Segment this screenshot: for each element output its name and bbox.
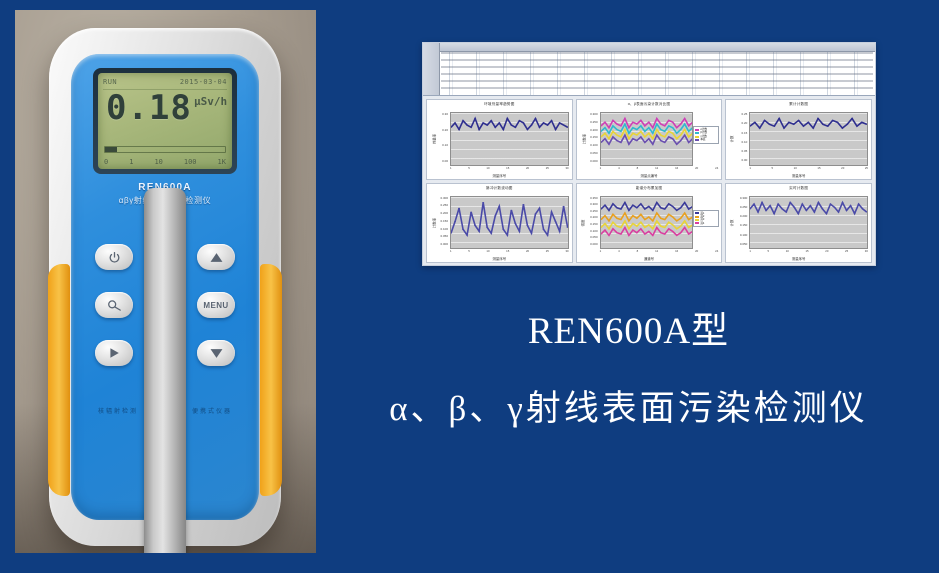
- chart-x-tick: 5: [468, 249, 470, 255]
- up-button[interactable]: [197, 244, 235, 270]
- chart-y-ticks: 0.250.200.150.100.050.00: [734, 112, 747, 163]
- lcd-screen: RUN 2015-03-04 0.18 μSv/h 0 1 10 100: [98, 73, 232, 169]
- chart-x-tick: 10: [786, 249, 789, 255]
- power-icon: [108, 251, 121, 264]
- chart-legend-swatch: [695, 216, 699, 218]
- lcd-bargraph: [104, 146, 226, 153]
- triangle-right-icon: [108, 347, 120, 359]
- chart-y-tick: 0.20: [741, 121, 747, 125]
- chart-cell: 环境剂量率趋势图剂量率0.300.200.100.00151015202530测…: [426, 99, 573, 180]
- chart-plot-area: [749, 196, 868, 250]
- chart-legend-swatch: [695, 139, 699, 141]
- chart-y-tick: 0.150: [740, 223, 748, 227]
- software-screenshot-panel: 环境剂量率趋势图剂量率0.300.200.100.00151015202530测…: [422, 42, 876, 266]
- chart-x-tick: 16: [675, 249, 678, 255]
- chart-plot-area: [749, 112, 868, 166]
- poster-titles: REN600A型 α、β、γ射线表面污染检测仪: [318, 300, 939, 431]
- chart-cell: α、β表面污染计数对比图计数率0.3000.2500.2000.1500.100…: [576, 99, 723, 180]
- chart-x-tick: 15: [817, 166, 820, 172]
- chart-x-tick: 12: [655, 249, 658, 255]
- lcd-scale-tick: 10: [154, 158, 162, 166]
- chart-y-tick: 0.100: [740, 233, 748, 237]
- chart-y-tick: 0.30: [442, 112, 448, 116]
- chart-x-tick: 1: [450, 166, 452, 172]
- chart-y-tick: 0.200: [740, 214, 748, 218]
- chart-x-tick: 30: [865, 249, 868, 255]
- chart-y-tick: 0.200: [440, 211, 448, 215]
- chart-legend-swatch: [695, 129, 699, 131]
- chart-x-ticks: 151015202530: [749, 249, 868, 255]
- lcd-bezel: RUN 2015-03-04 0.18 μSv/h 0 1 10 100: [93, 68, 237, 174]
- side-grip-left: [48, 264, 70, 496]
- detector-device: RUN 2015-03-04 0.18 μSv/h 0 1 10 100: [49, 28, 281, 546]
- chart-x-tick: 15: [806, 249, 809, 255]
- chart-x-tick: 8: [637, 166, 639, 172]
- poster-stage: RUN 2015-03-04 0.18 μSv/h 0 1 10 100: [0, 0, 939, 573]
- chart-x-tick: 20: [825, 249, 828, 255]
- chart-plot-area: [450, 196, 569, 250]
- chart-legend-swatch: [695, 136, 699, 138]
- chart-plot-area: [600, 112, 694, 166]
- chart-x-axis-label: 测量序号: [427, 173, 572, 178]
- chart-x-tick: 12: [655, 166, 658, 172]
- chart-y-tick: 0.25: [741, 112, 747, 116]
- chart-x-tick: 10: [486, 166, 489, 172]
- chart-cell: 实时计数图计数0.3000.2500.2000.1500.1000.050151…: [725, 183, 872, 264]
- chart-x-tick: 1: [450, 249, 452, 255]
- chart-y-tick: 0.000: [590, 159, 598, 163]
- chart-legend-swatch: [695, 222, 699, 224]
- chart-x-tick: 10: [794, 166, 797, 172]
- lcd-status-left: RUN: [103, 78, 117, 86]
- chart-legend-swatch: [695, 132, 699, 134]
- chart-plot-area: [450, 112, 569, 166]
- chart-y-tick: 0.250: [590, 209, 598, 213]
- chart-legend-item: 道4: [695, 222, 717, 225]
- chart-y-tick: 0.00: [741, 158, 747, 162]
- lcd-scale-tick: 100: [184, 158, 197, 166]
- chart-y-ticks: 0.3000.2500.2000.1500.1000.050: [734, 196, 747, 247]
- chart-x-tick: 20: [841, 166, 844, 172]
- chart-y-tick: 0.150: [440, 219, 448, 223]
- down-button[interactable]: [197, 340, 235, 366]
- chart-y-tick: 0.150: [590, 135, 598, 139]
- chart-legend-label: 道4: [700, 222, 704, 225]
- hand-strap: [144, 188, 186, 553]
- chart-x-tick: 10: [486, 249, 489, 255]
- chart-y-ticks: 0.3500.3000.2500.2000.1500.1000.0500.000: [585, 196, 598, 247]
- menu-button-label: MENU: [203, 301, 228, 310]
- chart-x-axis-label: 通道号: [577, 256, 722, 261]
- device-photo: RUN 2015-03-04 0.18 μSv/h 0 1 10 100: [15, 10, 316, 553]
- chart-y-tick: 0.15: [741, 131, 747, 135]
- device-footer-left: 核辐射检测: [98, 406, 138, 415]
- chart-x-axis-label: 测量序号: [726, 173, 871, 178]
- chart-y-tick: 0.100: [590, 143, 598, 147]
- lcd-scale-tick: 0: [104, 158, 108, 166]
- chart-y-tick: 0.200: [590, 128, 598, 132]
- chart-y-tick: 0.250: [590, 120, 598, 124]
- chart-x-axis-label: 测量序号: [427, 256, 572, 261]
- chart-x-tick: 25: [546, 166, 549, 172]
- chart-x-tick: 20: [695, 249, 698, 255]
- chart-y-tick: 0.200: [590, 215, 598, 219]
- chart-x-tick: 20: [526, 166, 529, 172]
- chart-y-tick: 0.000: [440, 242, 448, 246]
- chart-y-tick: 0.300: [590, 202, 598, 206]
- lcd-scale: 0 1 10 100 1K: [104, 156, 226, 167]
- chart-title: 实时计数图: [726, 186, 871, 191]
- chart-x-tick: 20: [695, 166, 698, 172]
- chart-x-tick: 30: [565, 166, 568, 172]
- chart-legend-swatch: [695, 219, 699, 221]
- chart-title: 脉冲计数波动图: [427, 186, 572, 191]
- chart-y-tick: 0.05: [741, 149, 747, 153]
- chart-x-tick: 4: [618, 166, 620, 172]
- chart-title: α、β表面污染计数对比图: [577, 102, 722, 107]
- chart-x-tick: 1: [749, 166, 751, 172]
- chart-y-tick: 0.20: [442, 128, 448, 132]
- chart-x-tick: 1: [600, 166, 602, 172]
- chart-x-tick: 1: [600, 249, 602, 255]
- product-model-title: REN600A型: [318, 300, 939, 354]
- chart-x-axis-label: 测量序号: [726, 256, 871, 261]
- chart-title: 累计计数图: [726, 102, 871, 107]
- chart-y-tick: 0.300: [740, 196, 748, 200]
- chart-x-ticks: 1510152025: [749, 166, 868, 172]
- chart-y-ticks: 0.3000.2500.2000.1500.1000.0500.000: [585, 112, 598, 163]
- chart-y-tick: 0.350: [590, 196, 598, 200]
- lcd-scale-tick: 1: [129, 158, 133, 166]
- search-button[interactable]: [95, 292, 133, 318]
- chart-x-ticks: 14812162024: [600, 249, 719, 255]
- chart-y-ticks: 0.300.200.100.00: [435, 112, 448, 163]
- chart-x-tick: 8: [637, 249, 639, 255]
- chart-x-tick: 25: [865, 166, 868, 172]
- chart-x-tick: 5: [768, 249, 770, 255]
- chart-cell: 脉冲计数波动图计数率0.3000.2500.2000.1500.1000.050…: [426, 183, 573, 264]
- chart-y-tick: 0.300: [590, 112, 598, 116]
- chart-x-tick: 24: [715, 166, 718, 172]
- chart-y-tick: 0.250: [740, 205, 748, 209]
- chart-x-ticks: 151015202530: [450, 249, 569, 255]
- chart-y-tick: 0.050: [740, 242, 748, 246]
- chart-x-axis-label: 测量点编号: [577, 173, 722, 178]
- chart-x-ticks: 151015202530: [450, 166, 569, 172]
- chart-cell: 累计计数图计数0.250.200.150.100.050.00151015202…: [725, 99, 872, 180]
- chart-x-tick: 30: [565, 249, 568, 255]
- chart-grid: 环境剂量率趋势图剂量率0.300.200.100.00151015202530测…: [423, 96, 875, 266]
- chart-y-tick: 0.050: [590, 151, 598, 155]
- chart-y-tick: 0.250: [440, 203, 448, 207]
- chart-title: 环境剂量率趋势图: [427, 102, 572, 107]
- chart-y-tick: 0.10: [442, 143, 448, 147]
- chart-legend-item: 本底: [695, 138, 717, 141]
- triangle-up-icon: [210, 252, 223, 263]
- chart-cell: 能谱分布累加图强度0.3500.3000.2500.2000.1500.1000…: [576, 183, 723, 264]
- chart-y-tick: 0.100: [440, 227, 448, 231]
- menu-button[interactable]: MENU: [197, 292, 235, 318]
- data-table-grid: [423, 43, 875, 96]
- chart-x-tick: 24: [715, 249, 718, 255]
- chart-x-tick: 15: [506, 166, 509, 172]
- chart-x-tick: 15: [506, 249, 509, 255]
- chart-legend-label: 本底: [700, 138, 705, 141]
- chart-legend-swatch: [695, 212, 699, 214]
- chart-x-ticks: 14812162024: [600, 166, 719, 172]
- lcd-status-right: 2015-03-04: [180, 78, 227, 86]
- play-button[interactable]: [95, 340, 133, 366]
- chart-y-tick: 0.050: [440, 234, 448, 238]
- power-button[interactable]: [95, 244, 133, 270]
- table-column-header-row: [423, 43, 875, 52]
- chart-y-tick: 0.00: [442, 159, 448, 163]
- chart-title: 能谱分布累加图: [577, 186, 722, 191]
- chart-x-tick: 25: [845, 249, 848, 255]
- chart-y-tick: 0.100: [590, 229, 598, 233]
- chart-legend: α计数β计数γ计数本底: [693, 126, 719, 144]
- product-name-title: α、β、γ射线表面污染检测仪: [318, 380, 939, 431]
- table-data-rows: [441, 52, 873, 94]
- lcd-reading-value: 0.18: [106, 89, 192, 127]
- lcd-scale-tick: 1K: [218, 158, 226, 166]
- side-grip-right: [260, 264, 282, 496]
- table-row-header-column: [423, 43, 440, 95]
- chart-y-tick: 0.10: [741, 140, 747, 144]
- magnifier-icon: [107, 299, 122, 312]
- chart-y-tick: 0.050: [590, 235, 598, 239]
- triangle-down-icon: [210, 348, 223, 359]
- chart-y-tick: 0.150: [590, 222, 598, 226]
- chart-y-tick: 0.300: [440, 196, 448, 200]
- chart-y-ticks: 0.3000.2500.2000.1500.1000.0500.000: [435, 196, 448, 247]
- chart-legend: 道1道2道3道4: [693, 210, 719, 228]
- chart-x-tick: 16: [675, 166, 678, 172]
- chart-x-tick: 25: [546, 249, 549, 255]
- lcd-bargraph-fill: [105, 147, 117, 152]
- chart-x-tick: 1: [749, 249, 751, 255]
- chart-x-tick: 5: [468, 166, 470, 172]
- chart-x-tick: 4: [618, 249, 620, 255]
- chart-y-tick: 0.000: [590, 242, 598, 246]
- chart-x-tick: 20: [526, 249, 529, 255]
- chart-plot-area: [600, 196, 694, 250]
- device-footer-right: 便携式仪器: [192, 406, 232, 415]
- chart-x-tick: 5: [772, 166, 774, 172]
- lcd-reading-unit: μSv/h: [194, 95, 227, 108]
